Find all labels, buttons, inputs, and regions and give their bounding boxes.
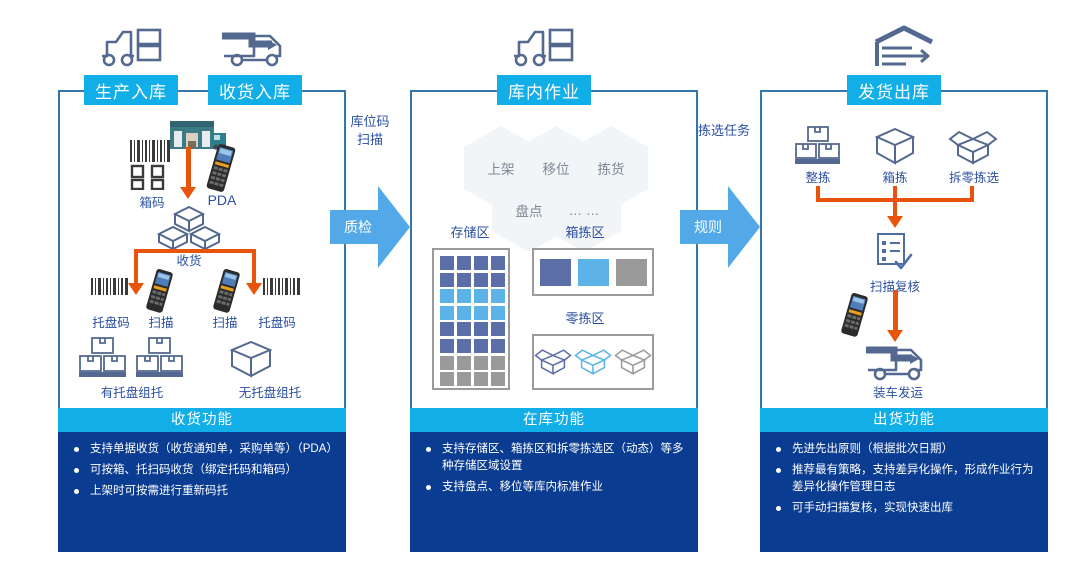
- orange-arrowhead-receiving: [180, 187, 196, 199]
- case-pick-slot: [540, 259, 571, 286]
- checklist-icon: [870, 232, 918, 274]
- feature-bullet: 支持单据收货（收货通知单，采购单等）（PDA）: [66, 441, 336, 458]
- orange-line-to-receiving: [186, 147, 191, 189]
- caption-case-pick: 箱拣: [867, 167, 923, 186]
- caption-with-pallet: 有托盘组托: [78, 382, 186, 401]
- storage-cell: [457, 256, 471, 270]
- storage-cell: [474, 339, 488, 353]
- pda-scanner-icon: [143, 268, 177, 314]
- badge-shipping-outbound[interactable]: 发货出库: [847, 75, 941, 105]
- orange-arrowhead-left-branch: [128, 283, 144, 295]
- caption-piece-pick: 拆零拣选: [942, 167, 1006, 186]
- storage-cell: [440, 306, 454, 320]
- caption-loading-shipping: 装车发运: [856, 382, 940, 401]
- storage-grid: [434, 250, 508, 388]
- open-box-icon: [948, 125, 998, 165]
- case-pick-slot: [578, 259, 609, 286]
- feature-bullet: 支持存储区、箱拣区和拆零拣选区（动态）等多种存储区域设置: [418, 441, 688, 475]
- caption-full-pallet-pick: 整拣: [790, 167, 846, 186]
- piece-pick-zone-box: [532, 334, 654, 390]
- forklift-pallet-icon: [508, 22, 578, 70]
- feature-body: 支持存储区、箱拣区和拆零拣选区（动态）等多种存储区域设置 支持盘点、移位等库内标…: [410, 432, 698, 552]
- feature-bullet: 可按箱、托扫码收货（绑定托码和箱码）: [66, 462, 336, 479]
- piece-pick-open-box: [614, 343, 652, 382]
- feature-card-inwarehouse: 在库功能 支持存储区、箱拣区和拆零拣选区（动态）等多种存储区域设置 支持盘点、移…: [410, 408, 698, 552]
- storage-cell: [491, 339, 505, 353]
- caption-scan-left: 扫描: [142, 312, 180, 331]
- storage-cell: [457, 356, 471, 370]
- badge-in-warehouse-ops[interactable]: 库内作业: [497, 75, 591, 105]
- storage-cell: [491, 356, 505, 370]
- barcode-icon: [262, 278, 302, 300]
- forklift-pallet-icon: [96, 22, 166, 70]
- storage-cell: [440, 372, 454, 386]
- connector-arrow-rules: 规则: [680, 182, 762, 272]
- pda-scanner-icon: [838, 292, 872, 338]
- pallet-stack-icon: [794, 126, 842, 166]
- orange-arrowhead-right-branch: [246, 283, 262, 295]
- storage-cell: [474, 289, 488, 303]
- badge-label: 库内作业: [508, 78, 580, 103]
- pda-scanner-icon: [210, 268, 244, 314]
- feature-bullet: 推荐最有策略，支持差异化操作，形成作业行为差异化操作管理日志: [768, 462, 1038, 496]
- delivery-truck-icon: [218, 26, 292, 70]
- storage-cell: [457, 322, 471, 336]
- barcode-qrcode-icon: [128, 140, 176, 190]
- storage-cell: [491, 273, 505, 287]
- barcode-icon: [90, 278, 130, 300]
- connector-arrow-label: 规则: [686, 217, 730, 237]
- feature-bullet: 上架时可按需进行重新码托: [66, 483, 336, 500]
- feature-body: 支持单据收货（收货通知单，采购单等）（PDA） 可按箱、托扫码收货（绑定托码和箱…: [58, 432, 346, 552]
- storage-cell: [474, 256, 488, 270]
- badge-receiving-inbound[interactable]: 收货入库: [208, 75, 302, 105]
- connector-arrow-label: 质检: [336, 217, 380, 237]
- storage-cell: [491, 306, 505, 320]
- storage-cell: [491, 256, 505, 270]
- feature-title: 收货功能: [58, 408, 346, 432]
- caption-without-pallet: 无托盘组托: [216, 382, 324, 401]
- orange-stem-to-shipping: [893, 290, 898, 332]
- storage-cell: [440, 256, 454, 270]
- case-pick-slot: [616, 259, 647, 286]
- orange-stem-to-review: [893, 198, 897, 218]
- piece-pick-open-box: [534, 343, 572, 382]
- orange-bracket-right-stem: [252, 249, 256, 285]
- storage-cell: [457, 289, 471, 303]
- feature-body: 先进先出原则（根据批次日期） 推荐最有策略，支持差异化操作，形成作业行为差异化操…: [760, 432, 1048, 552]
- storage-cell: [440, 322, 454, 336]
- storage-cell: [491, 289, 505, 303]
- storage-cell: [474, 306, 488, 320]
- storage-zone-box: [432, 248, 510, 390]
- feature-bullet: 支持盘点、移位等库内标准作业: [418, 479, 688, 496]
- orange-bracket-horizontal: [134, 249, 256, 253]
- case-pick-zone-box: [532, 248, 654, 296]
- badge-label: 发货出库: [858, 78, 930, 103]
- badge-production-inbound[interactable]: 生产入库: [84, 75, 178, 105]
- storage-cell: [474, 356, 488, 370]
- orange-arrowhead-to-review: [887, 216, 903, 228]
- storage-cell: [440, 273, 454, 287]
- feature-bullet: 可手动扫描复核，实现快速出库: [768, 500, 1038, 517]
- single-box-icon: [228, 340, 274, 378]
- connector-label-pick-task: 拣选任务: [678, 122, 770, 140]
- storage-cell: [457, 273, 471, 287]
- caption-storage-zone: 存储区: [430, 222, 510, 241]
- storage-cell: [457, 306, 471, 320]
- connector-arrow-quality-check: 质检: [330, 182, 412, 272]
- feature-card-outbound: 出货功能 先进先出原则（根据批次日期） 推荐最有策略，支持差异化操作，形成作业行…: [760, 408, 1048, 552]
- caption-piece-pick-zone: 零拣区: [545, 308, 625, 327]
- piece-pick-open-box: [574, 343, 612, 382]
- pallet-stack-icon: [78, 336, 128, 378]
- feature-bullet: 先进先出原则（根据批次日期）: [768, 441, 1038, 458]
- warehouse-out-icon: [868, 24, 940, 70]
- feature-card-inbound: 收货功能 支持单据收货（收货通知单，采购单等）（PDA） 可按箱、托扫码收货（绑…: [58, 408, 346, 552]
- badge-label: 生产入库: [95, 78, 167, 103]
- stacked-boxes-icon: [157, 205, 221, 249]
- storage-cell: [474, 372, 488, 386]
- feature-title: 在库功能: [410, 408, 698, 432]
- caption-scan-right: 扫描: [206, 312, 244, 331]
- feature-title: 出货功能: [760, 408, 1048, 432]
- pallet-stack-icon: [135, 336, 185, 378]
- orange-bracket-left-stem: [134, 249, 138, 285]
- badge-label: 收货入库: [219, 78, 291, 103]
- piece-pick-row: [534, 336, 652, 388]
- storage-cell: [440, 339, 454, 353]
- caption-pallet-code-right: 托盘码: [252, 312, 302, 331]
- storage-cell: [457, 372, 471, 386]
- storage-cell: [491, 372, 505, 386]
- storage-cell: [457, 339, 471, 353]
- storage-cell: [474, 322, 488, 336]
- storage-cell: [474, 273, 488, 287]
- caption-pallet-code-left: 托盘码: [86, 312, 136, 331]
- storage-cell: [440, 289, 454, 303]
- diagram-canvas: 生产入库 收货入库: [0, 0, 1080, 570]
- closed-box-icon: [873, 127, 917, 165]
- storage-cell: [491, 322, 505, 336]
- case-pick-row: [534, 250, 652, 294]
- delivery-truck-icon: [862, 340, 934, 382]
- caption-case-pick-zone: 箱拣区: [545, 222, 625, 241]
- storage-cell: [440, 356, 454, 370]
- pda-scanner-icon: [203, 143, 239, 193]
- connector-label-location-scan: 库位码 扫描: [335, 113, 405, 149]
